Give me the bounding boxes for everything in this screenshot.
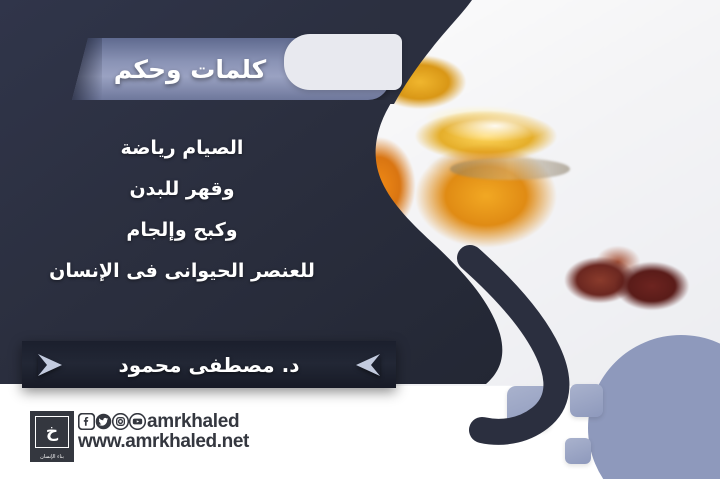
twitter-icon[interactable] <box>95 413 112 430</box>
triangle-right-notch-icon <box>38 354 47 376</box>
youtube-icon[interactable] <box>129 413 146 430</box>
photo-cup-band <box>450 158 570 180</box>
author-banner: د. مصطفى محمود <box>22 341 396 388</box>
logo-glyph: خ <box>35 416 69 448</box>
page-title: كلمات وحكم <box>72 38 308 100</box>
facebook-icon[interactable] <box>78 413 95 430</box>
social-handle[interactable]: amrkhaled <box>147 412 239 431</box>
quote-block: الصيام رياضة وقهر للبدن وكبح وإلجام للعن… <box>22 128 342 292</box>
footer: خ بناء الإنسان <box>30 411 249 463</box>
title-banner: كلمات وحكم <box>72 38 390 100</box>
decor-square-large <box>507 386 551 430</box>
poster-canvas: كلمات وحكم الصيام رياضة وقهر للبدن وكبح … <box>0 0 720 479</box>
logo-box: خ <box>30 411 74 453</box>
website-url[interactable]: www.amrkhaled.net <box>78 432 249 452</box>
quote-line-2: وقهر للبدن <box>22 169 342 210</box>
decor-square-medium <box>570 384 603 417</box>
triangle-left-notch-icon <box>371 354 380 376</box>
quote-line-3: وكبح وإلجام <box>22 210 342 251</box>
photo-highlight-top <box>420 104 570 148</box>
social-handle-row: amrkhaled <box>78 411 249 432</box>
quote-line-1: الصيام رياضة <box>22 128 342 169</box>
author-name: د. مصطفى محمود <box>119 353 300 377</box>
brand-logo[interactable]: خ بناء الإنسان <box>30 411 76 463</box>
decor-square-small <box>565 438 591 464</box>
footer-text: amrkhaled www.amrkhaled.net <box>78 411 249 452</box>
instagram-icon[interactable] <box>112 413 129 430</box>
quote-line-4: للعنصر الحيوانى فى الإنسان <box>22 251 342 292</box>
logo-subtitle: بناء الإنسان <box>30 453 74 462</box>
